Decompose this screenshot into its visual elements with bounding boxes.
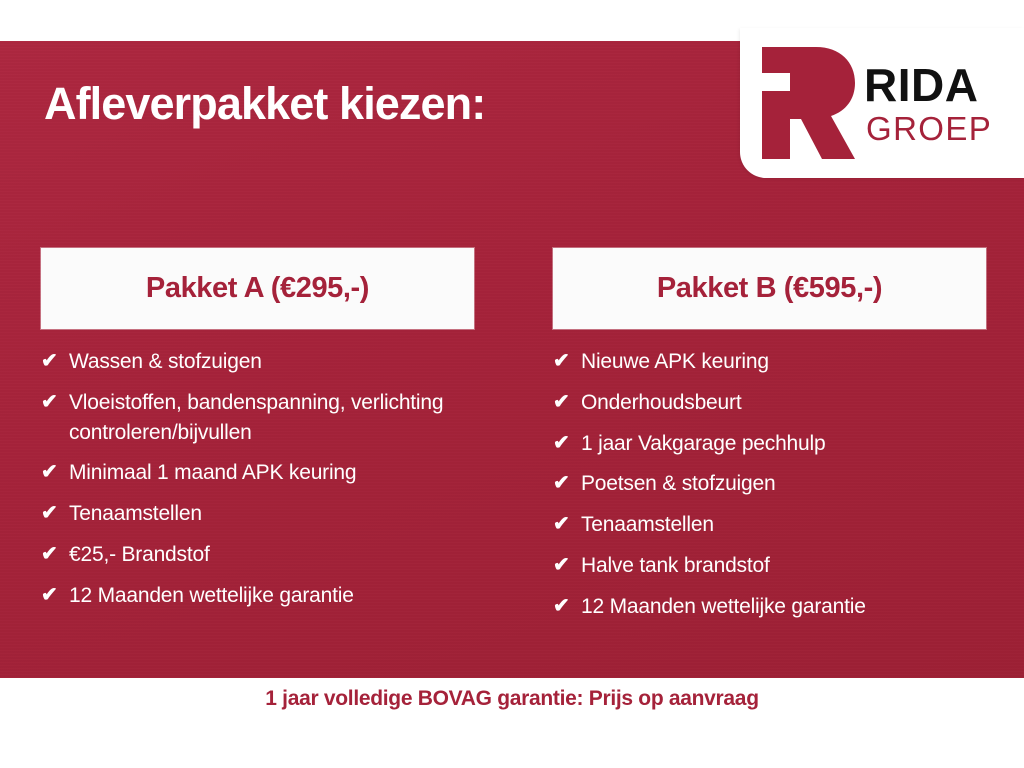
package-a-header[interactable]: Pakket A (€295,-) bbox=[41, 248, 474, 329]
package-a-feature-list: ✔ Wassen & stofzuigen ✔ Vloeistoffen, ba… bbox=[41, 347, 474, 611]
list-item: ✔ Vloeistoffen, bandenspanning, verlicht… bbox=[41, 388, 474, 448]
package-columns: Pakket A (€295,-) ✔ Wassen & stofzuigen … bbox=[0, 248, 1024, 633]
check-icon: ✔ bbox=[41, 540, 69, 568]
list-item-label: Nieuwe APK keuring bbox=[581, 347, 769, 377]
package-b-title: Pakket B (€595,-) bbox=[657, 272, 882, 305]
check-icon: ✔ bbox=[553, 551, 581, 579]
package-column-b: Pakket B (€595,-) ✔ Nieuwe APK keuring ✔… bbox=[553, 248, 986, 633]
list-item-label: Vloeistoffen, bandenspanning, verlichtin… bbox=[69, 388, 474, 448]
list-item-label: 1 jaar Vakgarage pechhulp bbox=[581, 429, 825, 459]
check-icon: ✔ bbox=[41, 347, 69, 375]
list-item-label: Wassen & stofzuigen bbox=[69, 347, 262, 377]
list-item: ✔ Tenaamstellen bbox=[553, 510, 986, 540]
slide-root: Afleverpakket kiezen: RIDA GROEP Pakket … bbox=[0, 0, 1024, 768]
list-item-label: €25,- Brandstof bbox=[69, 540, 210, 570]
check-icon: ✔ bbox=[41, 388, 69, 416]
list-item-label: Tenaamstellen bbox=[581, 510, 714, 540]
list-item: ✔ 12 Maanden wettelijke garantie bbox=[41, 581, 474, 611]
package-a-title: Pakket A (€295,-) bbox=[146, 272, 369, 305]
package-column-a: Pakket A (€295,-) ✔ Wassen & stofzuigen … bbox=[41, 248, 474, 633]
page-title: Afleverpakket kiezen: bbox=[44, 80, 485, 127]
check-icon: ✔ bbox=[41, 581, 69, 609]
check-icon: ✔ bbox=[553, 469, 581, 497]
list-item-label: Halve tank brandstof bbox=[581, 551, 770, 581]
list-item: ✔ Minimaal 1 maand APK keuring bbox=[41, 458, 474, 488]
list-item-label: Tenaamstellen bbox=[69, 499, 202, 529]
check-icon: ✔ bbox=[41, 499, 69, 527]
brand-logo-panel: RIDA GROEP bbox=[740, 28, 1024, 178]
brand-subname: GROEP bbox=[866, 112, 992, 145]
list-item-label: 12 Maanden wettelijke garantie bbox=[581, 592, 866, 622]
check-icon: ✔ bbox=[553, 592, 581, 620]
list-item-label: Minimaal 1 maand APK keuring bbox=[69, 458, 356, 488]
package-b-header[interactable]: Pakket B (€595,-) bbox=[553, 248, 986, 329]
check-icon: ✔ bbox=[553, 388, 581, 416]
list-item: ✔ Nieuwe APK keuring bbox=[553, 347, 986, 377]
list-item-label: Onderhoudsbeurt bbox=[581, 388, 741, 418]
check-icon: ✔ bbox=[553, 429, 581, 457]
package-b-feature-list: ✔ Nieuwe APK keuring ✔ Onderhoudsbeurt ✔… bbox=[553, 347, 986, 622]
footer-band: 1 jaar volledige BOVAG garantie: Prijs o… bbox=[0, 678, 1024, 768]
list-item: ✔ Wassen & stofzuigen bbox=[41, 347, 474, 377]
brand-wordmark: RIDA GROEP bbox=[864, 62, 992, 145]
list-item: ✔ Tenaamstellen bbox=[41, 499, 474, 529]
list-item-label: 12 Maanden wettelijke garantie bbox=[69, 581, 354, 611]
list-item: ✔ 12 Maanden wettelijke garantie bbox=[553, 592, 986, 622]
brand-name: RIDA bbox=[864, 62, 992, 108]
rida-r-monogram-icon bbox=[754, 43, 858, 163]
list-item: ✔ €25,- Brandstof bbox=[41, 540, 474, 570]
list-item: ✔ Halve tank brandstof bbox=[553, 551, 986, 581]
check-icon: ✔ bbox=[41, 458, 69, 486]
list-item-label: Poetsen & stofzuigen bbox=[581, 469, 775, 499]
list-item: ✔ Poetsen & stofzuigen bbox=[553, 469, 986, 499]
check-icon: ✔ bbox=[553, 510, 581, 538]
check-icon: ✔ bbox=[553, 347, 581, 375]
list-item: ✔ 1 jaar Vakgarage pechhulp bbox=[553, 429, 986, 459]
list-item: ✔ Onderhoudsbeurt bbox=[553, 388, 986, 418]
footer-note: 1 jaar volledige BOVAG garantie: Prijs o… bbox=[0, 687, 1024, 711]
